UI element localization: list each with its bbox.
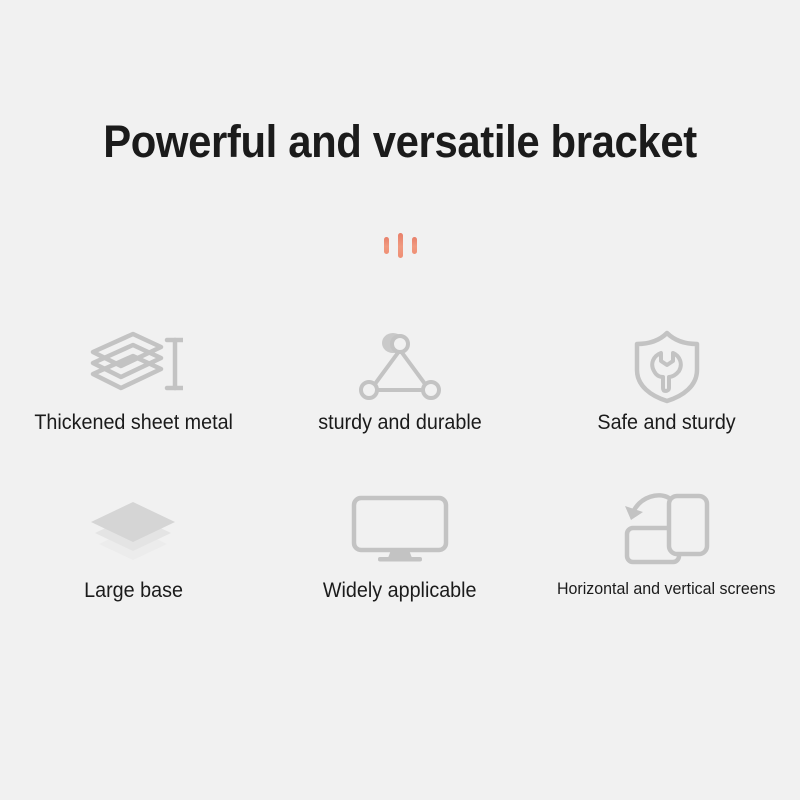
- feature-item-sturdy-and-durable: sturdy and durable: [267, 320, 534, 480]
- three-bar-divider: [0, 230, 800, 260]
- screen-rotation-icon: [621, 480, 713, 576]
- feature-label: Safe and sturdy: [598, 412, 736, 433]
- feature-label: Horizontal and vertical screens: [557, 580, 776, 597]
- page-title: Powerful and versatile bracket: [28, 116, 772, 168]
- shield-wrench-icon: [631, 320, 703, 412]
- feature-item-horizontal-vertical-screens: Horizontal and vertical screens: [533, 480, 800, 640]
- monitor-icon: [350, 480, 450, 576]
- divider-bar-left: [384, 237, 389, 254]
- feature-row-1: Thickened sheet metal: [0, 320, 800, 480]
- feature-row-2: Large base Widely applicable: [0, 480, 800, 640]
- feature-item-thickened-sheet-metal: Thickened sheet metal: [0, 320, 267, 480]
- feature-item-widely-applicable: Widely applicable: [267, 480, 534, 640]
- feature-label: sturdy and durable: [318, 412, 482, 433]
- divider-bar-right: [412, 237, 417, 254]
- product-feature-panel: Powerful and versatile bracket: [0, 0, 800, 800]
- divider-bar-center: [398, 233, 403, 258]
- stacked-sheet-metal-icon: [83, 320, 183, 412]
- feature-label: Widely applicable: [323, 580, 477, 601]
- feature-grid: Thickened sheet metal: [0, 320, 800, 640]
- triangle-truss-icon: [358, 320, 442, 412]
- feature-label: Thickened sheet metal: [34, 412, 233, 433]
- feature-label: Large base: [84, 580, 183, 601]
- feature-item-large-base: Large base: [0, 480, 267, 640]
- feature-item-safe-and-sturdy: Safe and sturdy: [533, 320, 800, 480]
- stacked-plates-base-icon: [85, 480, 181, 576]
